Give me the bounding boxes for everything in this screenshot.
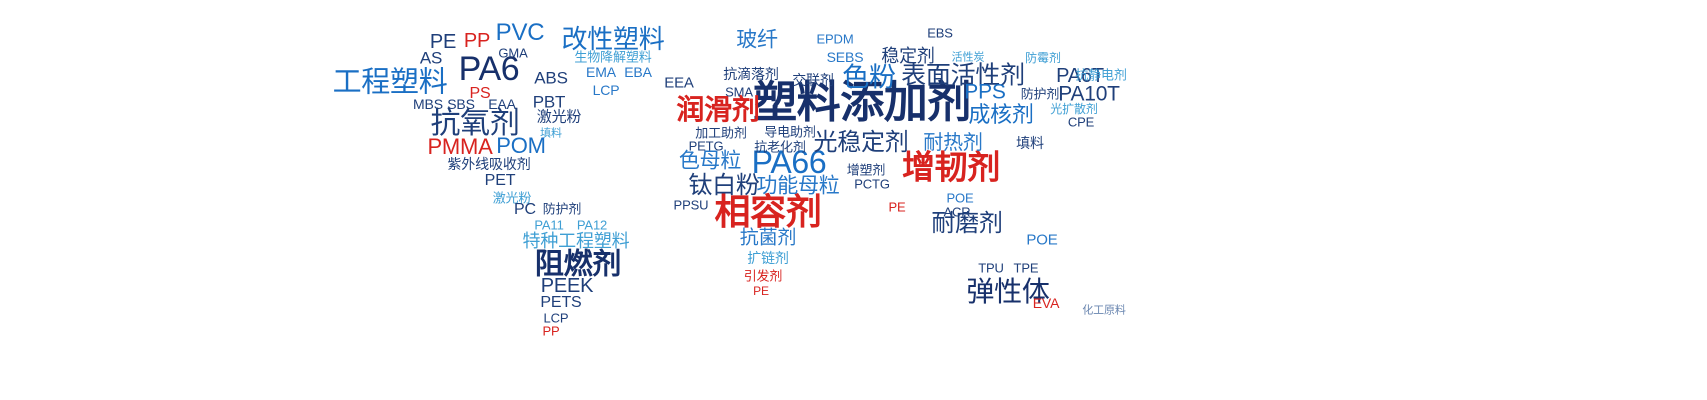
word-ema[interactable]: EMA <box>586 65 616 79</box>
word-sbs[interactable]: SBS <box>447 97 475 111</box>
word-chain-extender[interactable]: 扩链剂 <box>747 251 789 265</box>
word-pom[interactable]: POM <box>496 135 545 157</box>
word-antibacterial-agent[interactable]: 抗菌剂 <box>740 229 796 248</box>
word-plasticizer[interactable]: 增塑剂 <box>847 164 886 177</box>
word-activated-carbon[interactable]: 活性炭 <box>952 53 985 64</box>
word-mildew-inhibitor[interactable]: 防霉剂 <box>1025 52 1061 64</box>
word-filler-1[interactable]: 填料 <box>540 129 562 140</box>
word-cpe[interactable]: CPE <box>1068 116 1094 129</box>
word-gma[interactable]: GMA <box>498 47 527 60</box>
word-pmma[interactable]: PMMA <box>427 136 492 158</box>
word-mbs[interactable]: MBS <box>413 97 443 111</box>
word-heat-resistant-agent[interactable]: 耐热剂 <box>923 133 982 153</box>
word-peek[interactable]: PEEK <box>541 276 594 296</box>
word-poe-1[interactable]: POE <box>946 192 973 205</box>
word-lubricant[interactable]: 润滑剂 <box>676 96 759 124</box>
word-protective-agent-2[interactable]: 防护剂 <box>1021 88 1060 101</box>
word-ebs[interactable]: EBS <box>927 27 953 40</box>
word-toughening-agent[interactable]: 增韧剂 <box>902 151 1000 184</box>
word-acr[interactable]: ACR <box>943 206 970 219</box>
word-as[interactable]: AS <box>420 50 442 67</box>
word-sma[interactable]: SMA <box>725 86 753 99</box>
word-lcp-top[interactable]: LCP <box>593 83 620 97</box>
word-laser-powder-1[interactable]: 激光粉 <box>537 110 582 125</box>
word-pe-mid[interactable]: PE <box>888 201 905 214</box>
word-abs[interactable]: ABS <box>534 70 568 87</box>
word-pp-top[interactable]: PP <box>464 31 490 51</box>
word-pa11[interactable]: PA11 <box>534 219 563 232</box>
word-tpe[interactable]: TPE <box>1014 262 1039 275</box>
word-color-masterbatch[interactable]: 色母粒 <box>679 151 741 172</box>
word-anti-aging-agent[interactable]: 抗老化剂 <box>754 141 805 154</box>
word-eea[interactable]: EEA <box>664 76 694 91</box>
word-chemical-raw-materials[interactable]: 化工原料 <box>1082 306 1126 317</box>
word-ppsu[interactable]: PPSU <box>674 199 709 212</box>
word-pvc[interactable]: PVC <box>496 21 545 45</box>
word-protective-agent-1[interactable]: 防护剂 <box>543 203 582 216</box>
word-light-stabilizer[interactable]: 光稳定剂 <box>813 131 908 155</box>
word-uv-absorber[interactable]: 紫外线吸收剂 <box>447 157 530 171</box>
word-stabilizer[interactable]: 稳定剂 <box>881 47 934 65</box>
word-pe-bottom[interactable]: PE <box>753 285 769 297</box>
word-pa12[interactable]: PA12 <box>577 219 607 232</box>
word-compatibilizer[interactable]: 相容剂 <box>715 194 822 230</box>
word-poe-2[interactable]: POE <box>1026 233 1057 248</box>
word-nucleating-agent[interactable]: 成核剂 <box>968 104 1033 126</box>
word-pet[interactable]: PET <box>485 173 516 189</box>
word-titanium-dioxide[interactable]: 钛白粉 <box>688 174 759 198</box>
word-crosslinking-agent[interactable]: 交联剂 <box>792 73 834 87</box>
word-initiator[interactable]: 引发剂 <box>744 270 783 283</box>
word-cloud-canvas: 塑料添加剂相容剂增韧剂阻燃剂润滑剂工程塑料抗氧剂PA6PA66表面活性剂改性塑料… <box>0 0 1707 400</box>
word-eba[interactable]: EBA <box>624 65 652 79</box>
word-tpu[interactable]: TPU <box>978 262 1004 275</box>
word-pc[interactable]: PC <box>514 202 536 218</box>
word-epdm[interactable]: EPDM <box>816 33 853 46</box>
word-color-powder[interactable]: 色粉 <box>842 65 895 92</box>
word-special-engineering-plastics[interactable]: 特种工程塑料 <box>523 232 630 250</box>
word-glass-fiber[interactable]: 玻纤 <box>736 30 778 51</box>
word-filler-2[interactable]: 填料 <box>1016 136 1044 150</box>
word-antistatic-agent[interactable]: 抗静电剂 <box>1075 69 1126 82</box>
word-light-diffusing-agent[interactable]: 光扩散剂 <box>1050 103 1098 115</box>
word-conductive-aid[interactable]: 导电助剂 <box>764 126 815 139</box>
word-surfactant[interactable]: 表面活性剂 <box>901 64 1025 89</box>
word-functional-masterbatch[interactable]: 功能母粒 <box>756 176 839 197</box>
word-sebs[interactable]: SEBS <box>827 50 864 64</box>
word-pets[interactable]: PETS <box>540 295 581 311</box>
word-modified-plastics[interactable]: 改性塑料 <box>562 26 665 52</box>
word-eaa[interactable]: EAA <box>488 97 516 111</box>
word-eva[interactable]: EVA <box>1033 296 1060 310</box>
word-engineering-plastics[interactable]: 工程塑料 <box>333 69 448 98</box>
word-petg[interactable]: PETG <box>689 140 724 153</box>
word-pctg[interactable]: PCTG <box>854 178 890 191</box>
word-pp-bottom[interactable]: PP <box>542 325 559 338</box>
word-biodegradable-plastics[interactable]: 生物降解塑料 <box>574 51 651 64</box>
word-pps[interactable]: PPS <box>964 82 1005 103</box>
word-anti-drip-agent[interactable]: 抗滴落剂 <box>723 67 778 81</box>
